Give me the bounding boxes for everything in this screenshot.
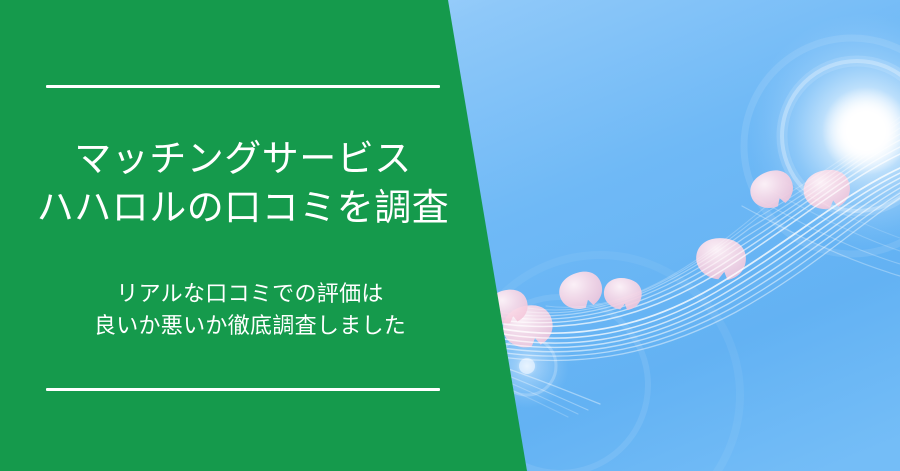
text-block: マッチングサービスハハロルの口コミを調査 リアルな口コミでの評価は良いか悪いか徹… (0, 0, 486, 471)
subtitle-line-2: 良いか悪いか徹底調査しました (94, 313, 406, 338)
subtitle-line-1: リアルな口コミでの評価は (116, 281, 383, 306)
page-subtitle: リアルな口コミでの評価は良いか悪いか徹底調査しました (0, 278, 500, 342)
top-divider-rule (46, 85, 440, 88)
title-line-1: マッチングサービス (74, 138, 412, 179)
banner-image: マッチングサービスハハロルの口コミを調査 リアルな口コミでの評価は良いか悪いか徹… (0, 0, 900, 471)
bottom-divider-rule (46, 388, 440, 391)
page-title: マッチングサービスハハロルの口コミを調査 (0, 134, 486, 232)
title-line-2: ハハロルの口コミを調査 (37, 187, 450, 228)
